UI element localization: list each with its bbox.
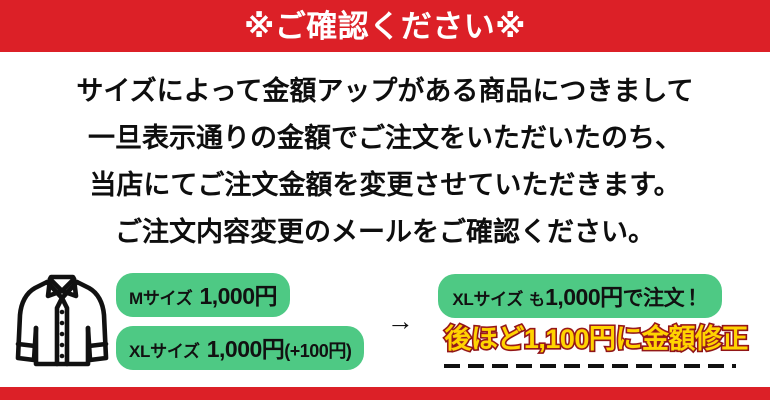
price-pill-xl: XLサイズ 1,000円 (+100円) xyxy=(116,326,364,370)
size-label-m: Mサイズ xyxy=(129,284,192,309)
before-price-list: Mサイズ 1,000円 XLサイズ 1,000円 (+100円) xyxy=(112,273,364,370)
order-exclamation: ！ xyxy=(687,282,708,312)
notice-body: サイズによって金額アップがある商品につきまして 一旦表示通りの金額でご注文をいた… xyxy=(0,52,770,256)
page-title: ※ご確認ください※ xyxy=(244,11,526,42)
size-label-xl: XLサイズ xyxy=(129,337,200,362)
notice-line-1: サイズによって金額アップがある商品につきまして xyxy=(0,68,770,115)
price-amount-xl: 1,000円 xyxy=(207,330,285,364)
footer-banner xyxy=(0,387,770,400)
price-correction-note: 後ほど1,100円に金額修正 xyxy=(438,324,748,355)
shirt-icon xyxy=(14,272,110,370)
order-price-pill: XLサイズ も 1,000円 で注文 ！ xyxy=(438,274,722,318)
order-size-label: XLサイズ xyxy=(452,285,523,310)
price-comparison-row: Mサイズ 1,000円 XLサイズ 1,000円 (+100円) → XLサイズ… xyxy=(0,262,770,380)
notice-line-4: ご注文内容変更のメールをご確認ください。 xyxy=(0,209,770,256)
order-particle: も xyxy=(529,286,545,310)
after-price-block: XLサイズ も 1,000円 で注文 ！ 後ほど1,100円に金額修正 xyxy=(436,274,748,368)
arrow-right-icon: → xyxy=(364,308,436,335)
order-tail-text: で注文 xyxy=(623,282,685,312)
shirt-icon-wrapper xyxy=(0,272,112,370)
dashed-underline xyxy=(444,364,736,368)
shirt-buttons xyxy=(60,310,65,359)
price-surcharge-xl: (+100円) xyxy=(284,337,351,363)
order-amount: 1,000円 xyxy=(545,278,623,312)
notice-line-3: 当店にてご注文金額を変更させていただきます。 xyxy=(0,162,770,209)
header-banner: ※ご確認ください※ xyxy=(0,0,770,52)
price-pill-m: Mサイズ 1,000円 xyxy=(116,273,290,317)
price-amount-m: 1,000円 xyxy=(199,277,277,311)
notice-line-2: 一旦表示通りの金額でご注文をいただいたのち、 xyxy=(0,115,770,162)
